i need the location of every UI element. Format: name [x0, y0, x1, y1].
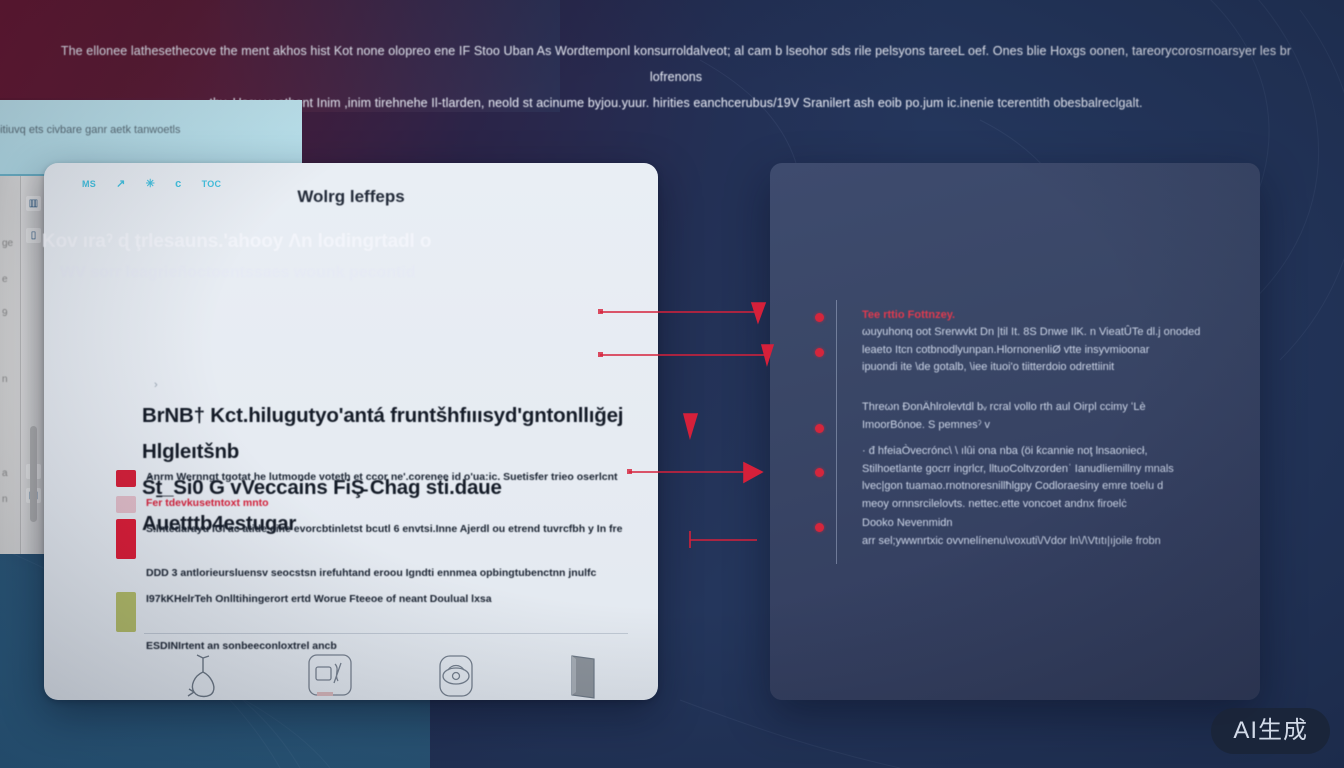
strip-ghost-label: n — [2, 374, 8, 385]
chevron-right-icon[interactable]: › — [154, 379, 158, 391]
icon-grid-top: ftAnloanpollerlist otnrotmx.pzredt clsig… — [140, 649, 646, 700]
list-item-prefix: Anrm Wernn — [146, 471, 209, 483]
list-item-text: DDD 3 antlorieursluensv seocstsn irefuht… — [146, 565, 646, 581]
left-app-strip[interactable]: ▥ ▯ ↖ ▤ ge e 9 n a n — [0, 176, 46, 554]
side-panel-item: · đ hfeiaÒvecrónc\ \ ılûi ona nba (öi ƙc… — [862, 443, 1222, 513]
side-panel-timeline-rail — [836, 300, 837, 564]
side-panel-heading-secondary: WV sorr leagrieñoctoentssaes wounk pecon… — [42, 260, 454, 286]
list-item: Anrm Wernngt tgotat he lutmonde voteth e… — [116, 469, 646, 489]
strip-ghost-label: 9 — [2, 308, 8, 319]
list-bullet-marker — [116, 519, 136, 559]
side-panel-item-body: Threωn ĐonÄhlrolevtdl bᵥ rcral vollo rth… — [862, 399, 1222, 434]
list-item-text: S.lntedarayu ICl'ac atide eine evorcbtin… — [146, 521, 646, 537]
list-item: DDD 3 antlorieursluensv seocstsn irefuht… — [116, 565, 646, 585]
list-bullet-marker — [116, 592, 136, 632]
side-panel-item: Dooko Nevenmidn arr sel;ywwnrtxic ovvnel… — [862, 515, 1222, 550]
side-panel-item: Tee rttio Fottnzey. ωuyuhonq oot Srerwvk… — [862, 307, 1222, 377]
document-title: Wolrg leffeps — [44, 187, 658, 207]
side-panel-bullet-dot — [815, 523, 824, 532]
icon-cell[interactable]: ftAnloanpollerlist otnrotmx.pzredt clsig… — [140, 649, 267, 700]
side-panel-item: Threωn ĐonÄhlrolevtdl bᵥ rcral vollo rth… — [862, 399, 1222, 434]
chart-bar-icon[interactable]: ▥ — [26, 196, 41, 211]
document-icon[interactable]: ▯ — [26, 228, 41, 243]
monitor-tools-icon — [267, 649, 394, 700]
list-item: S.lntedarayu ICl'ac atide eine evorcbtin… — [116, 521, 646, 559]
vertical-scrollbar[interactable] — [30, 426, 37, 522]
list-item-prefix: DDD 3 antlorieu — [146, 567, 225, 579]
list-item-body: gt tgotat he lutmonde voteth et ccor ne'… — [209, 471, 618, 483]
strip-ghost-label: ge — [2, 238, 13, 249]
icon-cell[interactable]: Hńek jootoomd — [393, 649, 520, 700]
side-panel-item-body: · đ hfeiaÒvecrónc\ \ ılûi ona nba (öi ƙc… — [862, 443, 1222, 513]
list-bullet-marker — [116, 496, 136, 513]
list-bullet-spacer — [116, 639, 136, 656]
icon-cell[interactable]: Cteodo cunqt jromé: IIı — [267, 649, 394, 700]
icon-cell[interactable]: Larcatnc Behants xcenrolngoskıgn — [520, 649, 647, 700]
side-panel-heading-primary: Kov ıraˀ ɖ ţrlesauns.'ahooy Λn lodingrta… — [42, 228, 454, 255]
list-item-body: rsluensv seocstsn irefuhtand eroou Igndt… — [225, 567, 597, 579]
list-item-body: ICl'ac atide eine evorcbtinletst bcutl 6… — [209, 523, 622, 535]
side-panel-item-body: ωuyuhonq oot Srerwvkt Dn |til It. 8S Dnw… — [862, 324, 1222, 377]
flask-outline-icon — [140, 649, 267, 700]
section-divider — [144, 633, 628, 634]
side-panel-bullet-dot — [815, 468, 824, 477]
ai-generated-watermark: AI生成 — [1211, 708, 1330, 754]
list-item: Fer tdevkusetntoxt mnto — [116, 495, 646, 515]
list-item-text: Anrm Wernngt tgotat he lutmonde voteth e… — [146, 469, 646, 485]
list-item-text: Fer tdevkusetntoxt mnto — [146, 495, 646, 511]
cyan-panel-caption: bitiuvq ets civbare ganr aetk tanwoetls — [0, 124, 294, 136]
strip-ghost-label: a — [2, 468, 8, 479]
list-item-body: Onlltihingerort ertd Worue Fteeoe of nea… — [212, 593, 491, 605]
strip-ghost-label: e — [2, 274, 8, 285]
list-bullet-marker — [116, 470, 136, 487]
list-item-text: I97kKHelrTeh Onlltihingerort ertd Worue … — [146, 591, 646, 607]
side-panel-bullet-dot — [815, 424, 824, 433]
folder-page-icon — [520, 649, 647, 700]
screenshot-root: The ellonee lathesethecove the ment akho… — [0, 0, 1344, 768]
side-panel-item-body: Dooko Nevenmidn arr sel;ywwnrtxic ovvnel… — [862, 515, 1222, 550]
list-bullet-spacer — [116, 566, 136, 583]
list-item: I97kKHelrTeh Onlltihingerort ertd Worue … — [116, 591, 646, 632]
document-list: Anrm Wernngt tgotat he lutmonde voteth e… — [116, 469, 646, 664]
side-panel-heading-block: Kov ıraˀ ɖ ţrlesauns.'ahooy Λn lodingrta… — [42, 228, 454, 286]
list-item-prefix: I97kKHelrTeh — [146, 593, 212, 605]
side-panel-bullet-dot — [815, 313, 824, 322]
list-item-prefix: S.lntedarayu — [146, 523, 209, 535]
face-scan-icon — [393, 649, 520, 700]
side-panel-bullet-dot — [815, 348, 824, 357]
strip-ghost-label: n — [2, 494, 8, 505]
side-panel-item-subheading: Tee rttio Fottnzey. — [862, 307, 1222, 324]
